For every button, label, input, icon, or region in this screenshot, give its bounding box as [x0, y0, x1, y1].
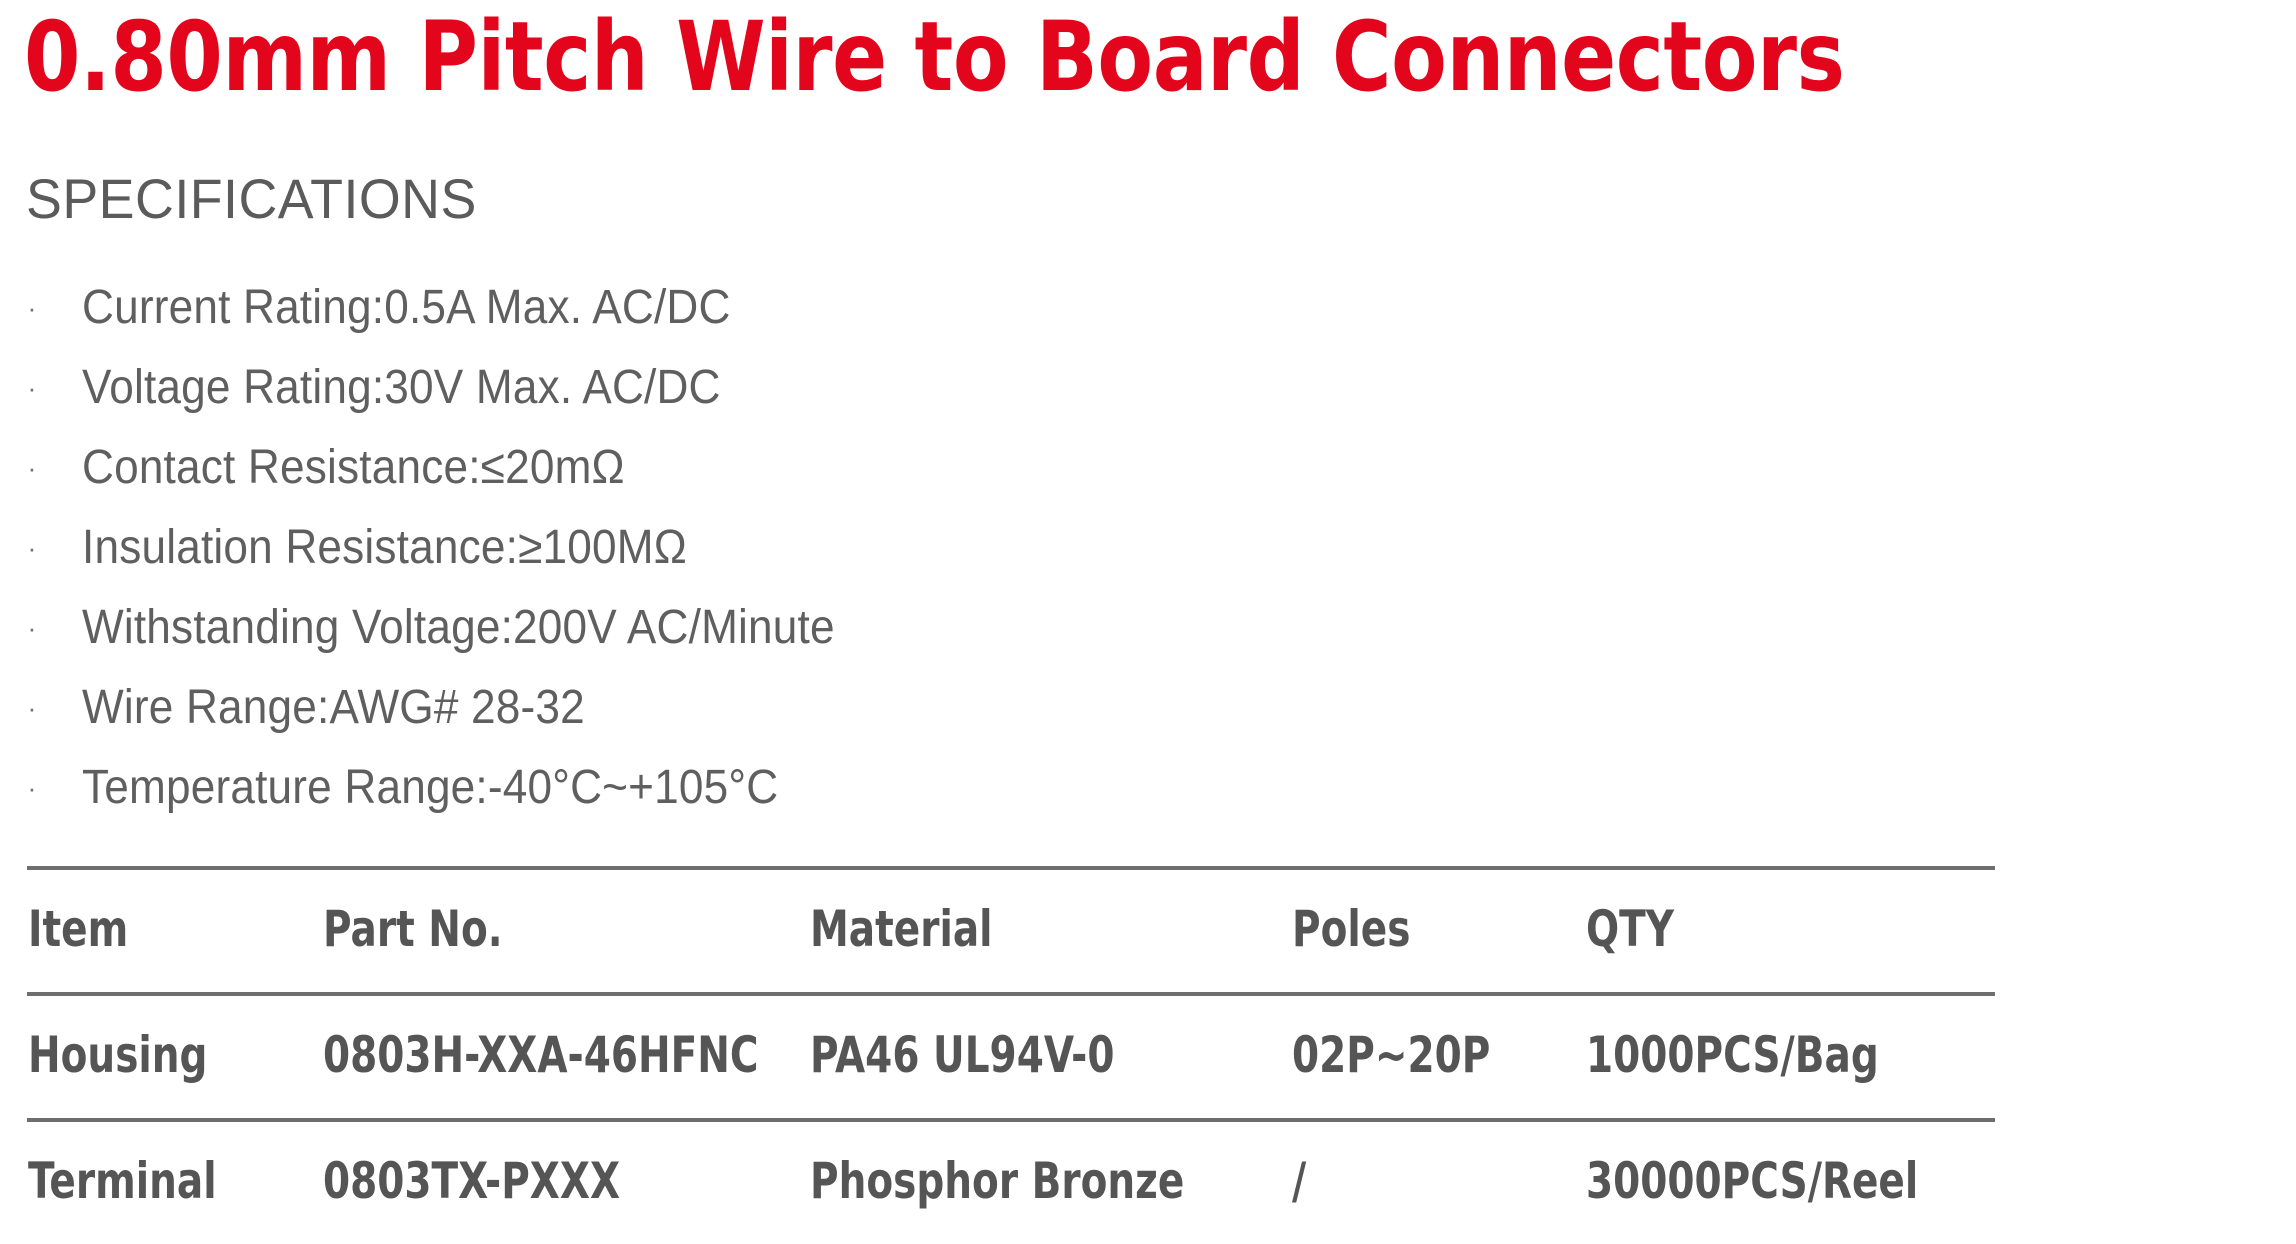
- spec-item-label: Insulation Resistance:≥100MΩ: [82, 508, 687, 588]
- spec-list-item: · Voltage Rating:30V Max. AC/DC: [0, 348, 2296, 428]
- table-row: Housing 0803H-XXA-46HFNC PA46 UL94V-0 02…: [0, 992, 2296, 1118]
- spec-item-label: Wire Range:AWG# 28-32: [82, 668, 585, 748]
- spec-list-item: · Temperature Range:-40°C~+105°C: [0, 748, 2296, 828]
- table-cell-qty: 1000PCS/Bag: [1586, 992, 1879, 1118]
- bullet-icon: ·: [22, 268, 42, 348]
- spec-list-item: · Wire Range:AWG# 28-32: [0, 668, 2296, 748]
- specifications-list: · Current Rating:0.5A Max. AC/DC · Volta…: [0, 268, 2296, 828]
- bullet-icon: ·: [22, 748, 42, 828]
- spec-item-label: Voltage Rating:30V Max. AC/DC: [82, 348, 721, 428]
- bullet-icon: ·: [22, 428, 42, 508]
- spec-item-label: Withstanding Voltage:200V AC/Minute: [82, 588, 835, 668]
- spec-item-label: Current Rating:0.5A Max. AC/DC: [82, 268, 731, 348]
- table-cell-qty: 30000PCS/Reel: [1586, 1118, 1918, 1244]
- table-header-item: Item: [28, 866, 128, 992]
- spec-item-label: Contact Resistance:≤20mΩ: [82, 428, 625, 508]
- spec-item-label: Temperature Range:-40°C~+105°C: [82, 748, 778, 828]
- table-cell-item: Terminal: [28, 1118, 217, 1244]
- table-header-qty: QTY: [1586, 866, 1674, 992]
- page-title: 0.80mm Pitch Wire to Board Connectors: [24, 2, 1934, 112]
- table-header-material: Material: [810, 866, 993, 992]
- bullet-icon: ·: [22, 668, 42, 748]
- table-cell-material: Phosphor Bronze: [810, 1118, 1184, 1244]
- table-cell-poles: 02P~20P: [1292, 992, 1490, 1118]
- table-cell-poles: /: [1292, 1118, 1306, 1244]
- spec-list-item: · Insulation Resistance:≥100MΩ: [0, 508, 2296, 588]
- table-header-poles: Poles: [1292, 866, 1410, 992]
- bullet-icon: ·: [22, 508, 42, 588]
- bullet-icon: ·: [22, 348, 42, 428]
- spec-list-item: · Withstanding Voltage:200V AC/Minute: [0, 588, 2296, 668]
- table-cell-part-no: 0803H-XXA-46HFNC: [323, 992, 759, 1118]
- spec-list-item: · Contact Resistance:≤20mΩ: [0, 428, 2296, 508]
- spec-list-item: · Current Rating:0.5A Max. AC/DC: [0, 268, 2296, 348]
- table-cell-item: Housing: [28, 992, 207, 1118]
- table-cell-material: PA46 UL94V-0: [810, 992, 1115, 1118]
- table-header-part-no: Part No.: [323, 866, 503, 992]
- bullet-icon: ·: [22, 588, 42, 668]
- specifications-heading: SPECIFICATIONS: [26, 168, 477, 230]
- table-header-row: Item Part No. Material Poles QTY: [0, 866, 2296, 992]
- table-row: Terminal 0803TX-PXXX Phosphor Bronze / 3…: [0, 1118, 2296, 1244]
- table-cell-part-no: 0803TX-PXXX: [323, 1118, 620, 1244]
